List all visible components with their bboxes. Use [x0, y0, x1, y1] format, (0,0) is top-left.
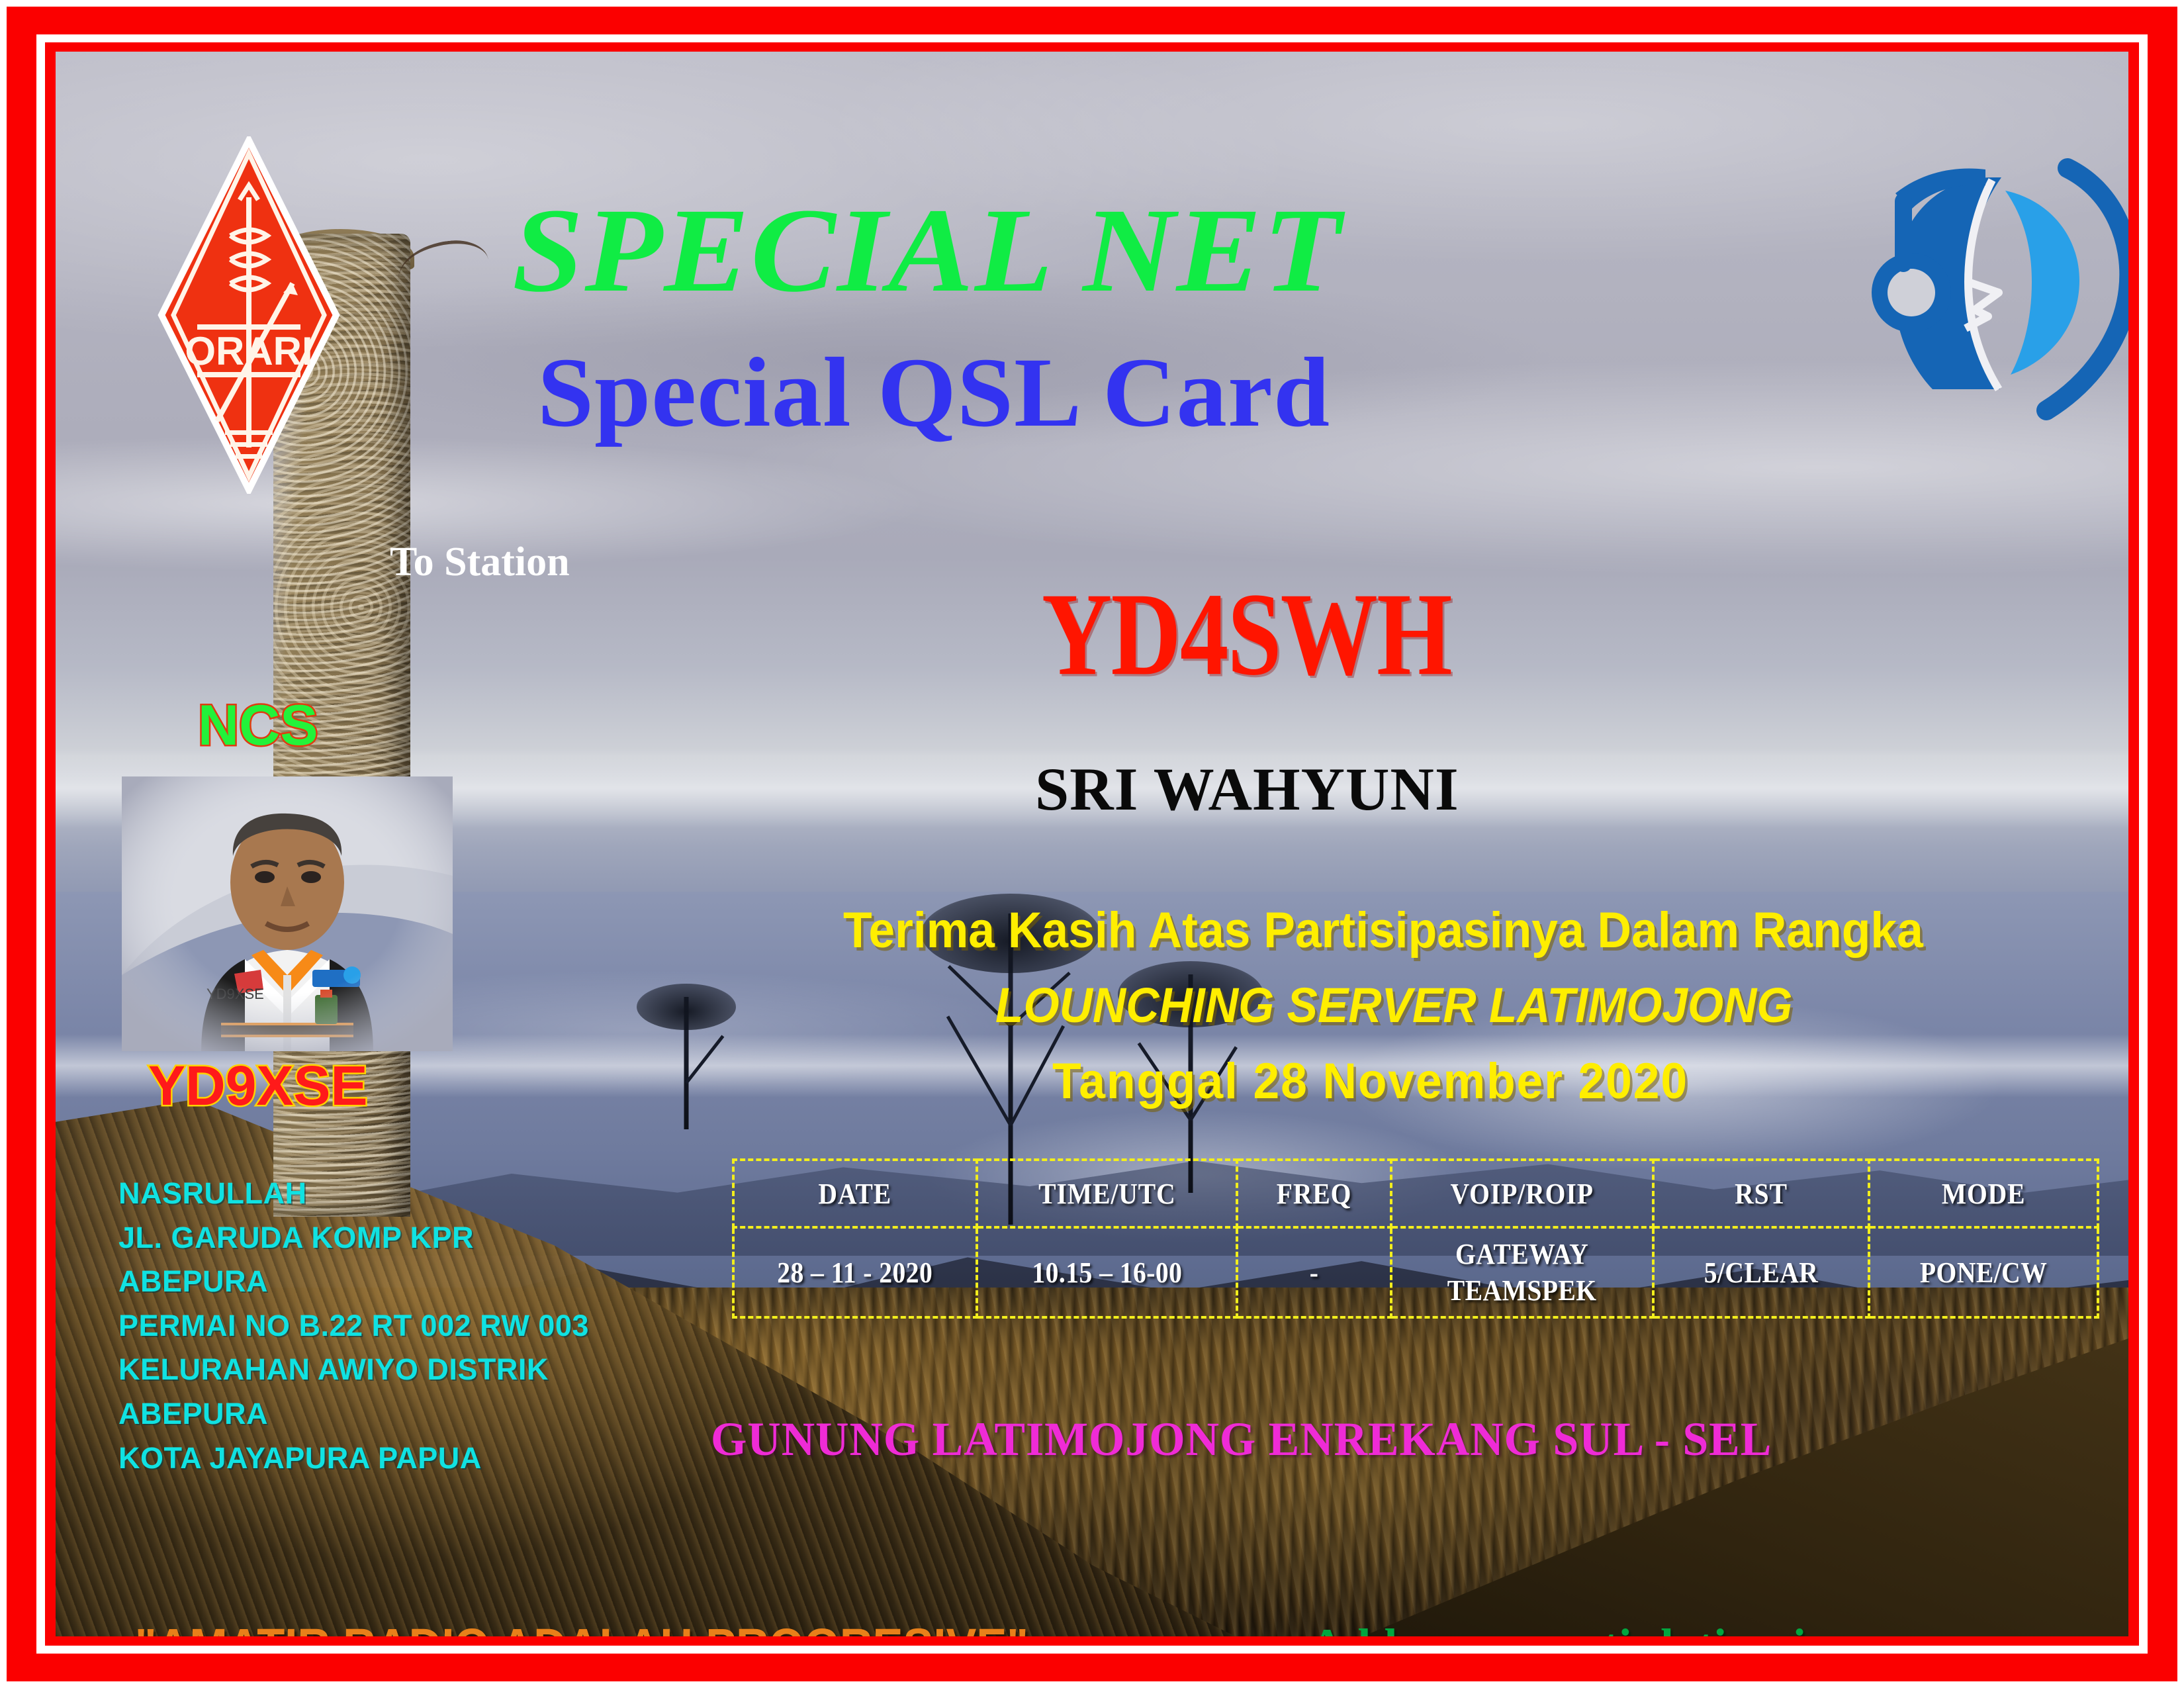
operator-name: SRI WAHYUNI [1035, 759, 1459, 820]
address-line: KELURAHAN AWIYO DISTRIK [118, 1348, 589, 1392]
voip-operator-logo [1869, 151, 2128, 422]
orari-logo-text: ORARI [185, 329, 312, 373]
address-line: PERMAI NO B.22 RT 002 RW 003 [118, 1304, 589, 1348]
cell-voip: GATEWAY TEAMSPEK [1404, 1227, 1640, 1317]
cell-voip-line2: TEAMSPEK [1406, 1272, 1638, 1309]
table-row: 28 – 11 - 2020 10.15 – 16-00 - GATEWAY T… [733, 1227, 2098, 1317]
address-line: NASRULLAH [118, 1172, 589, 1216]
subtitle: Special QSL Card [537, 343, 1330, 442]
cell-rst: 5/CLEAR [1664, 1227, 1858, 1317]
callsign: YD4SWH [1042, 575, 1451, 693]
address-block: NASRULLAH JL. GARUDA KOMP KPR ABEPURA PE… [118, 1172, 589, 1480]
address-line: ABEPURA [118, 1392, 589, 1436]
page-title: SPECIAL NET [512, 191, 1342, 311]
qso-log-table: DATE TIME/UTC FREQ VOIP/ROIP RST MODE 28… [732, 1158, 2099, 1319]
cell-voip-line1: GATEWAY [1406, 1236, 1638, 1272]
cell-date: 28 – 11 - 2020 [745, 1227, 964, 1317]
background-photograph: ORARI SPECIAL NET Special QSL Card [56, 52, 2128, 1636]
cell-mode: PONE/CW [1880, 1227, 2087, 1317]
header-voip: VOIP/ROIP [1404, 1160, 1640, 1227]
ncs-callsign: YD9XSE [148, 1058, 368, 1113]
header-rst: RST [1664, 1160, 1858, 1227]
web-address: Address : amatir.latimojong.com [1310, 1622, 1977, 1636]
tree-silhouette [657, 997, 716, 1129]
ncs-label: NCS [198, 697, 318, 754]
address-line: JL. GARUDA KOMP KPR [118, 1216, 589, 1260]
ncs-portrait-photo: YD9XSE [122, 776, 453, 1051]
header-freq: FREQ [1245, 1160, 1384, 1227]
header-date: DATE [745, 1160, 964, 1227]
address-line: KOTA JAYAPURA PAPUA [118, 1436, 589, 1481]
location-label: GUNUNG LATIMOJONG ENREKANG SUL - SEL [711, 1415, 1772, 1463]
thanks-block: Terima Kasih Atas Partisipasinya Dalam R… [843, 906, 2128, 1107]
thanks-line-1: Terima Kasih Atas Partisipasinya Dalam R… [843, 906, 2087, 956]
table-header-row: DATE TIME/UTC FREQ VOIP/ROIP RST MODE [733, 1160, 2098, 1227]
header-mode: MODE [1880, 1160, 2087, 1227]
thanks-line-3: Tanggal 28 November 2020 [1052, 1056, 2100, 1107]
qsl-card: ORARI SPECIAL NET Special QSL Card [0, 0, 2184, 1688]
header-time: TIME/UTC [989, 1160, 1224, 1227]
address-line: ABEPURA [118, 1260, 589, 1304]
motto-text: "AMATIR RADIO ADALAH PROGRESIVE" [135, 1622, 1028, 1636]
cell-time: 10.15 – 16-00 [989, 1227, 1224, 1317]
cell-freq: - [1245, 1227, 1384, 1317]
thanks-line-2: LOUNCHING SERVER LATIMOJONG [995, 981, 2097, 1030]
orari-logo: ORARI [156, 136, 341, 494]
to-station-label: To Station [390, 541, 570, 583]
